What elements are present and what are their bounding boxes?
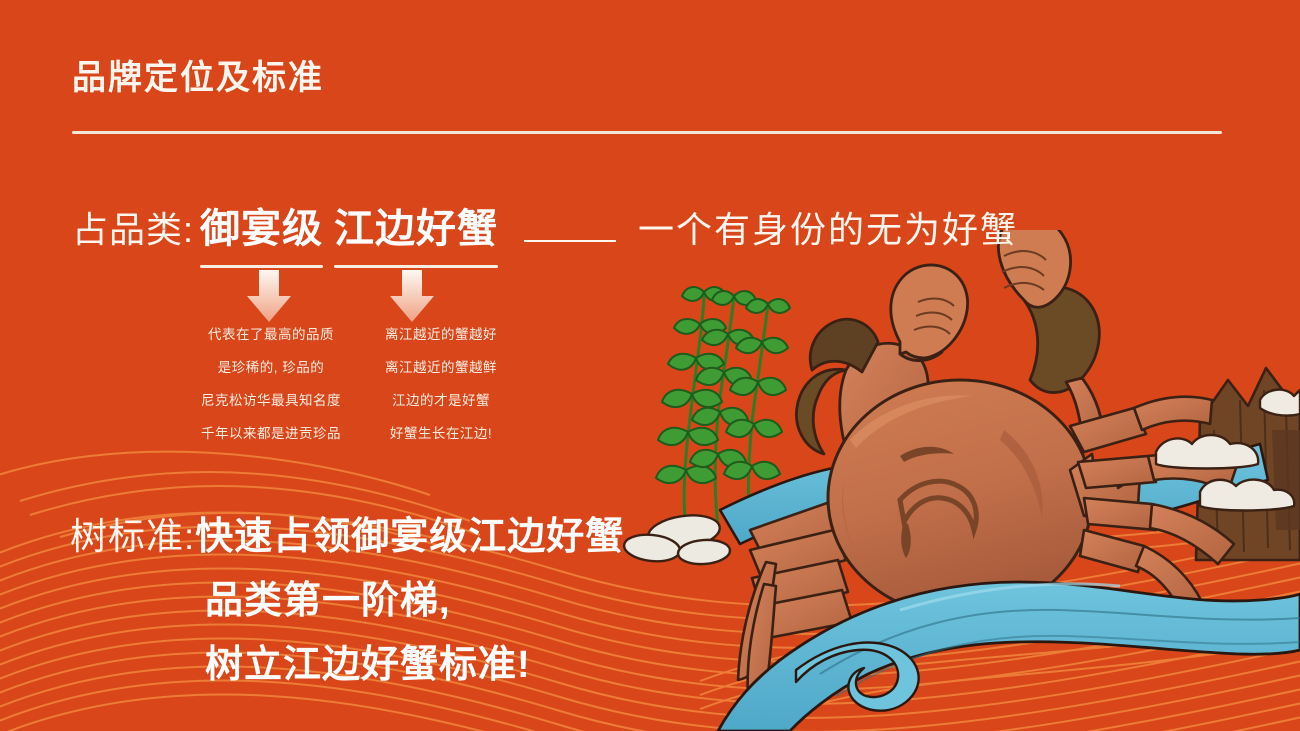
column-line: 离江越近的蟹越鲜: [360, 351, 522, 384]
headline-dash: [524, 240, 616, 242]
statement-line-1: 快速占领御宴级江边好蟹: [195, 505, 624, 560]
column-line: 是珍稀的, 珍品的: [190, 351, 352, 384]
crab-illustration: [600, 230, 1300, 731]
headline-emphasis-group: 御宴级 江边好蟹: [200, 196, 498, 268]
column-line: 好蟹生长在江边!: [360, 417, 522, 450]
slide-canvas: 品牌定位及标准 占品类: 御宴级 江边好蟹 一个有身份的无为好蟹 代表在了最高的…: [0, 0, 1300, 731]
benefit-columns: 代表在了最高的品质 是珍稀的, 珍品的 尼克松访华最具知名度 千年以来都是进贡珍…: [190, 318, 522, 450]
headline-row: 占品类: 御宴级 江边好蟹 一个有身份的无为好蟹: [72, 196, 1018, 268]
stones-shape: [623, 511, 731, 566]
statement-block: 树标准: 快速占领御宴级江边好蟹 品类第一阶梯, 树立江边好蟹标准!: [70, 505, 624, 688]
statement-line-3: 树立江边好蟹标准!: [205, 633, 624, 688]
headline-label: 占品类:: [72, 201, 194, 253]
statement-label: 树标准:: [70, 506, 195, 560]
headline-tagline: 一个有身份的无为好蟹: [638, 201, 1018, 253]
title-divider: [72, 131, 1222, 134]
column-imperial-grade: 代表在了最高的品质 是珍稀的, 珍品的 尼克松访华最具知名度 千年以来都是进贡珍…: [190, 318, 352, 450]
headline-emphasis-riverside: 江边好蟹: [334, 196, 498, 268]
column-line: 代表在了最高的品质: [190, 318, 352, 351]
column-riverside-crab: 离江越近的蟹越好 离江越近的蟹越鲜 江边的才是好蟹 好蟹生长在江边!: [360, 318, 522, 450]
down-arrow-icon-right: [384, 268, 440, 324]
column-line: 千年以来都是进贡珍品: [190, 417, 352, 450]
page-title: 品牌定位及标准: [72, 58, 324, 99]
statement-row-1: 树标准: 快速占领御宴级江边好蟹: [70, 505, 624, 560]
column-line: 离江越近的蟹越好: [360, 318, 522, 351]
column-line: 尼克松访华最具知名度: [190, 384, 352, 417]
headline-emphasis-imperial: 御宴级: [200, 196, 323, 268]
statement-line-2: 品类第一阶梯,: [205, 569, 624, 624]
column-line: 江边的才是好蟹: [360, 384, 522, 417]
down-arrow-icon-left: [241, 268, 297, 324]
